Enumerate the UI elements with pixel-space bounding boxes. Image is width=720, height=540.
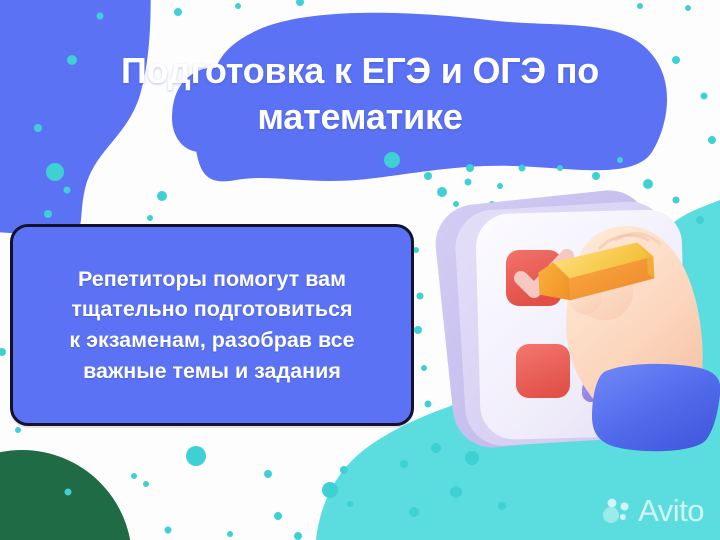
callout-text: Репетиторы помогут вам тщательно подгото… [61,264,362,386]
callout-box: Репетиторы помогут вам тщательно подгото… [10,224,414,426]
avito-watermark: Avito [602,495,704,526]
avito-wordmark: Avito [638,495,704,526]
banner-canvas: Подготовка к ЕГЭ и ОГЭ по математике Реп… [0,0,720,540]
avito-logo-icon [602,496,632,526]
checkbox-empty [516,344,570,398]
sleeve-cuff [592,364,720,451]
